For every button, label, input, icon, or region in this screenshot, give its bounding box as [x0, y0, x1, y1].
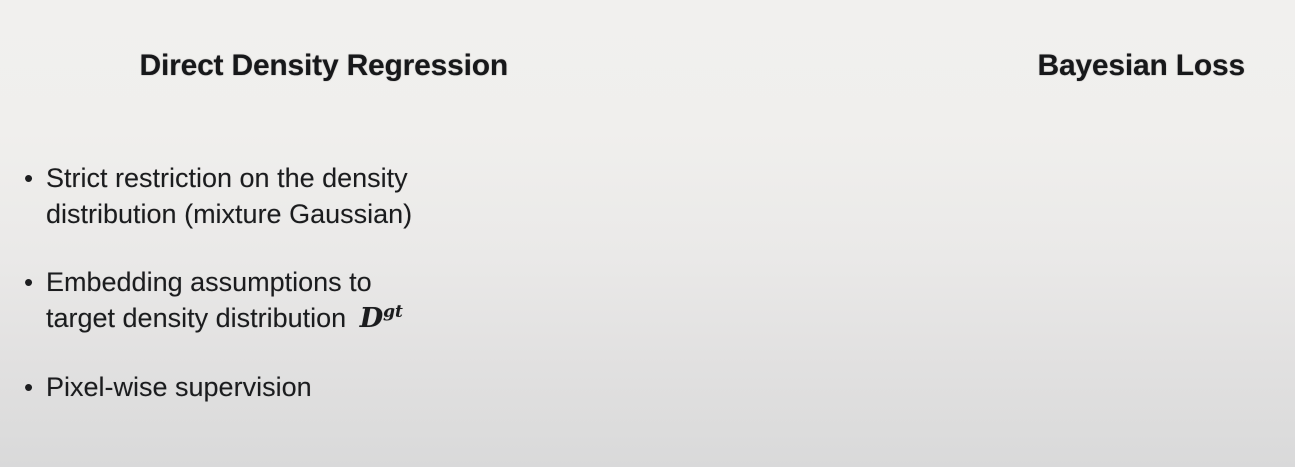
- slide-canvas: Direct Density Regression Bayesian Loss …: [0, 0, 1295, 467]
- bullet-marker-icon: •: [18, 264, 46, 300]
- bullet-item-strict-restriction: • Strict restriction on the density dist…: [18, 160, 568, 232]
- column-direct-density-regression: • Strict restriction on the density dist…: [0, 160, 648, 405]
- math-base: D: [360, 303, 383, 334]
- bullet-line-text: target density distribution: [46, 303, 346, 333]
- bullet-line: Strict restriction on the density: [46, 160, 568, 196]
- title-cell-right: Bayesian Loss: [818, 40, 1295, 92]
- bullet-line: Pixel-wise supervision: [46, 369, 568, 405]
- math-superscript: gt: [383, 302, 403, 322]
- bullet-item-embedding-assumptions-target-density: • Embedding assumptions to target densit…: [18, 264, 568, 337]
- bullet-text: Embedding assumptions to target density …: [46, 264, 568, 337]
- bullet-text: Pixel-wise supervision: [46, 369, 568, 405]
- bullet-marker-icon: •: [18, 160, 46, 196]
- titles-row: Direct Density Regression Bayesian Loss: [0, 40, 1295, 92]
- content-columns: • Strict restriction on the density dist…: [0, 160, 1295, 405]
- bullet-marker-icon: •: [18, 369, 46, 405]
- column-title-bayesian-loss: Bayesian Loss: [1037, 49, 1245, 83]
- column-bayesian-loss: • No explicit restriction on the density…: [648, 160, 1295, 405]
- column-title-direct-density-regression: Direct Density Regression: [140, 49, 508, 83]
- title-cell-left: Direct Density Regression: [0, 40, 818, 92]
- bullet-line-with-math: target density distribution Dgt: [46, 300, 568, 337]
- bullet-line: Embedding assumptions to: [46, 264, 568, 300]
- bullet-item-pixel-wise-supervision: • Pixel-wise supervision: [18, 369, 568, 405]
- bullet-text: Strict restriction on the density distri…: [46, 160, 568, 232]
- bullet-line: distribution (mixture Gaussian): [46, 196, 568, 232]
- math-symbol-target-density: Dgt: [360, 303, 403, 334]
